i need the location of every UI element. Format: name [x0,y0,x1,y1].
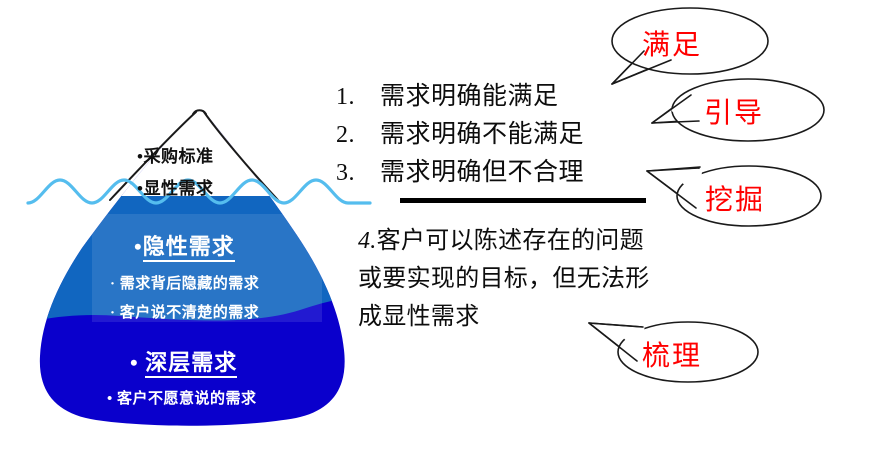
numbered-list: 1. 需求明确能满足 2. 需求明确不能满足 3. 需求明确但不合理 [336,78,636,192]
list-item-number: 3. [336,154,380,192]
callout-label-wajue: 挖掘 [705,178,765,218]
slide-canvas: •采购标准 •显性需求 •隐性需求 · 需求背后隐藏的需求 · 客户说不清楚的需… [0,0,875,449]
list-item-text: 需求明确不能满足 [380,116,584,154]
iceberg-mid-heading-bullet: • [134,234,143,259]
list-item-text: 需求明确但不合理 [380,154,584,192]
iceberg-deep-heading-bullet: • [130,350,145,375]
callout-bubble-wajue[interactable]: 挖掘 [645,152,830,237]
list-item-number: 2. [336,116,380,154]
iceberg-mid-item-0: · 需求背后隐藏的需求 [110,277,259,292]
iceberg-mid-heading-text: 隐性需求 [143,234,235,262]
callout-label-manzu: 满足 [642,23,702,63]
iceberg-deep-heading: • 深层需求 [130,352,237,374]
iceberg-above-item-1: •显性需求 [137,180,213,197]
iceberg-mid-item-1: · 客户说不清楚的需求 [110,306,259,321]
iceberg-body [0,0,400,449]
list-item-text: 需求明确能满足 [380,78,559,116]
callout-bubble-yindao[interactable]: 引导 [650,70,835,155]
list-item: 3. 需求明确但不合理 [336,154,636,192]
paragraph-number: 4. [358,228,377,254]
iceberg-diagram: •采购标准 •显性需求 •隐性需求 · 需求背后隐藏的需求 · 客户说不清楚的需… [0,0,400,449]
list-item: 1. 需求明确能满足 [336,78,636,116]
iceberg-deep-heading-text: 深层需求 [145,350,237,378]
callout-label-yindao: 引导 [704,91,764,131]
iceberg-above-item-0: •采购标准 [137,148,213,165]
callout-bubble-shuli[interactable]: 梳理 [580,310,765,395]
iceberg-graphic [0,0,400,449]
list-item: 2. 需求明确不能满足 [336,116,636,154]
callout-label-shuli: 梳理 [642,334,702,374]
iceberg-deep-item-0: • 客户不愿意说的需求 [107,392,257,407]
list-item-number: 1. [336,78,380,116]
iceberg-mid-heading: •隐性需求 [134,236,235,258]
horizontal-divider [400,198,646,203]
